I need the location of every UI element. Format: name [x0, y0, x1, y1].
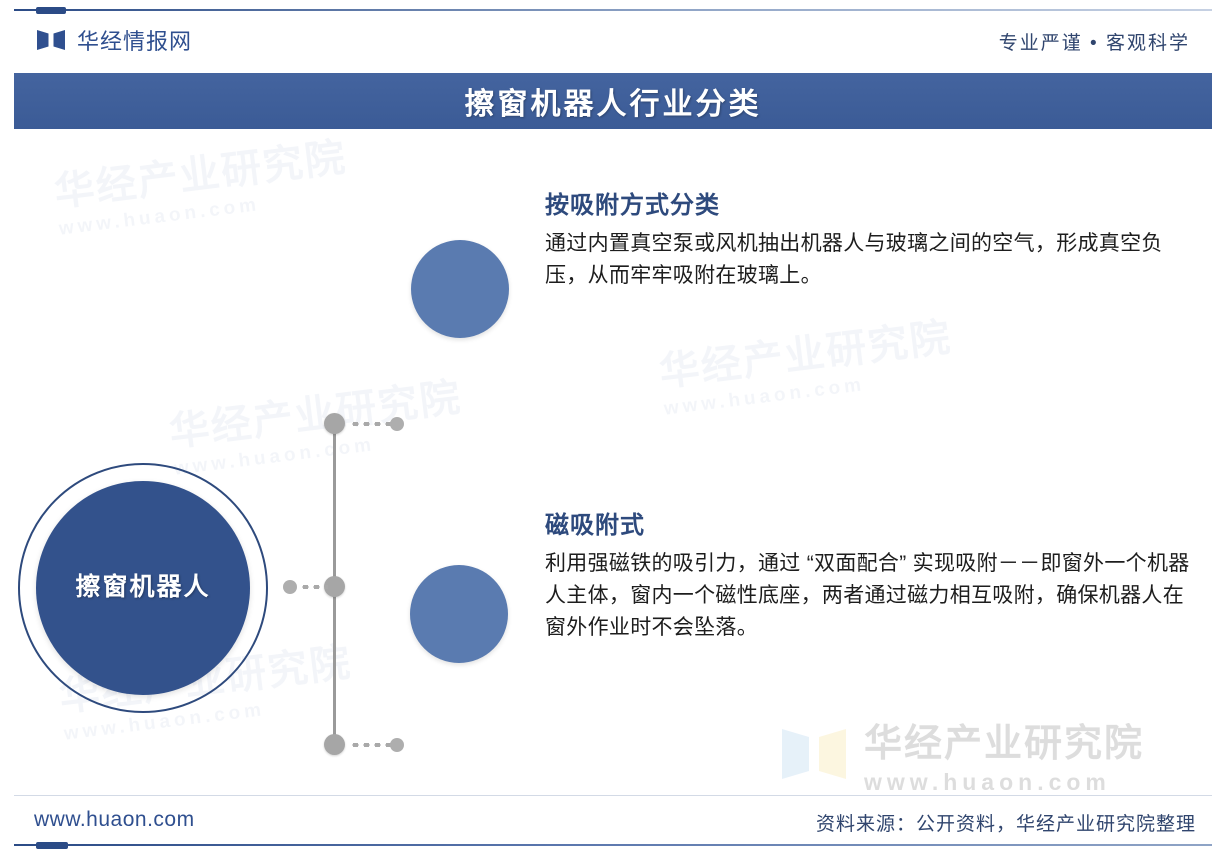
brand-name: 华经情报网	[77, 24, 192, 56]
branch-heading: 磁吸附式	[545, 505, 1193, 540]
hub-label: 擦窗机器人	[68, 571, 218, 605]
brand-bar: 华经情报网 专业严谨 • 客观科学	[0, 18, 1226, 68]
branch-body: 利用强磁铁的吸引力，通过 “双面配合” 实现吸附－－即窗外一个机器人主体，窗内一…	[545, 548, 1193, 644]
brand-logo: 华经情报网	[36, 24, 192, 56]
connector-node	[324, 413, 345, 434]
connector-node	[324, 734, 345, 755]
connector-mini-dot	[390, 417, 404, 431]
open-book-logo-icon	[36, 28, 66, 52]
bottom-rule-line	[14, 844, 1212, 846]
branch-bubble	[410, 565, 508, 663]
branch-block-2: 磁吸附式 利用强磁铁的吸引力，通过 “双面配合” 实现吸附－－即窗外一个机器人主…	[545, 505, 1193, 644]
footer: www.huaon.com 资料来源：公开资料，华经产业研究院整理	[0, 802, 1226, 842]
bottom-rule-cap	[36, 842, 68, 849]
branch-bubble	[411, 240, 509, 338]
footer-source-note: 资料来源：公开资料，华经产业研究院整理	[816, 809, 1196, 836]
infographic-page: 华经产业研究院 www.huaon.com 华经产业研究院 www.huaon.…	[0, 0, 1226, 854]
bottom-decorative-rule	[14, 842, 1212, 849]
branch-heading: 按吸附方式分类	[545, 185, 1193, 220]
connector-dotted-line	[300, 585, 328, 589]
connector-dotted-line	[350, 743, 392, 747]
top-decorative-rule	[14, 8, 1212, 12]
top-rule-cap	[36, 7, 66, 14]
branch-block-1: 按吸附方式分类 通过内置真空泵或风机抽出机器人与玻璃之间的空气，形成真空负压，从…	[545, 185, 1193, 292]
hub-circle: 擦窗机器人	[36, 481, 250, 695]
footer-separator	[14, 795, 1212, 796]
top-rule-line	[14, 9, 1212, 11]
branch-body: 通过内置真空泵或风机抽出机器人与玻璃之间的空气，形成真空负压，从而牢牢吸附在玻璃…	[545, 228, 1193, 292]
connector-dotted-line	[350, 422, 392, 426]
footer-site-url[interactable]: www.huaon.com	[34, 808, 195, 832]
page-title: 擦窗机器人行业分类	[465, 79, 762, 123]
connector-mini-dot	[390, 738, 404, 752]
brand-tagline: 专业严谨 • 客观科学	[999, 28, 1190, 55]
connector-mini-dot	[283, 580, 297, 594]
title-band: 擦窗机器人行业分类	[14, 73, 1212, 129]
diagram-area: 擦窗机器人 按吸附方式分类 通过内置真空泵或风机抽出机器人与玻璃之间的空气，形成…	[0, 130, 1226, 790]
